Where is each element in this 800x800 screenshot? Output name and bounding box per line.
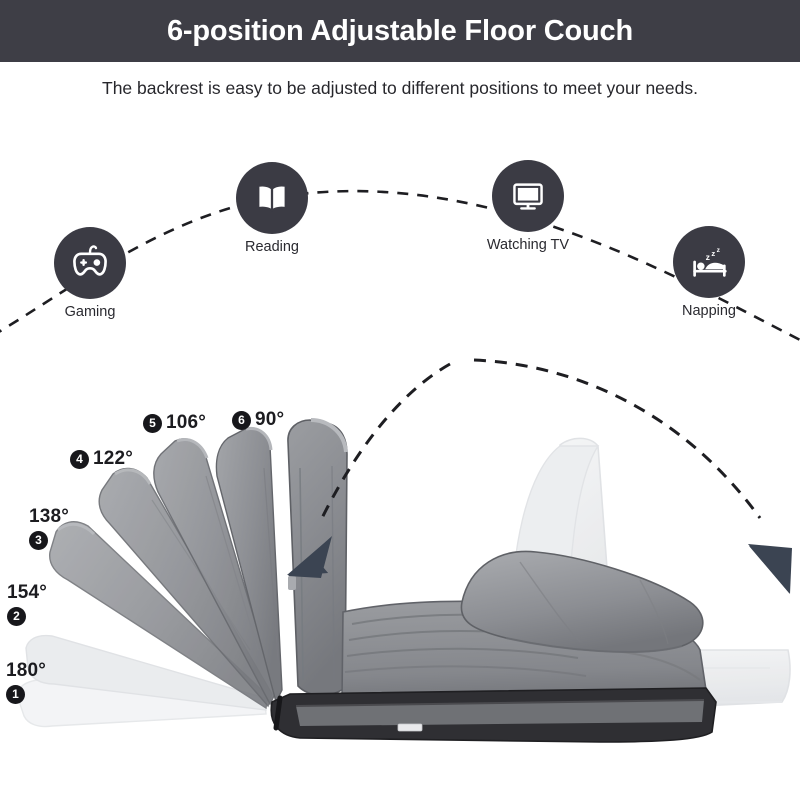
svg-text:z: z [717,247,721,254]
position-angle: 138° [29,506,69,528]
couch-base [271,688,716,742]
open-book-icon-circle [236,162,308,234]
position-label-1: 180° 1 [6,660,46,704]
position-badge: 2 [7,607,26,626]
position-label-2: 154° 2 [7,582,47,626]
position-label-3: 138° 3 [29,506,69,550]
position-badge: 5 [143,414,162,433]
gamepad-icon-circle [54,227,126,299]
position-label-6: 690° [232,409,284,431]
position-badge: 4 [70,450,89,469]
position-badge: 1 [6,685,25,704]
header-bar: 6-position Adjustable Floor Couch [0,0,800,62]
infographic-page: 6-position Adjustable Floor Couch The ba… [0,0,800,800]
bed-sleep-icon: z z z [686,239,732,285]
subtitle-text: The backrest is easy to be adjusted to d… [0,78,800,99]
television-icon [507,175,549,217]
position-badge: 3 [29,531,48,550]
position-angle: 154° [7,582,47,604]
position-label-5: 5106° [143,412,206,434]
television-icon-circle [492,160,564,232]
position-label-4: 4122° [70,448,133,470]
position-angle: 180° [6,660,46,682]
svg-text:z: z [706,252,710,262]
open-book-icon [251,177,293,219]
svg-text:z: z [711,249,715,258]
position-angle: 90° [255,409,284,430]
position-angle: 106° [166,412,206,433]
bed-sleep-icon-circle: z z z [673,226,745,298]
page-title: 6-position Adjustable Floor Couch [167,15,633,48]
position-angle: 122° [93,448,133,469]
position-badge: 6 [232,411,251,430]
gamepad-icon [68,241,112,285]
product-illustration [0,350,800,800]
